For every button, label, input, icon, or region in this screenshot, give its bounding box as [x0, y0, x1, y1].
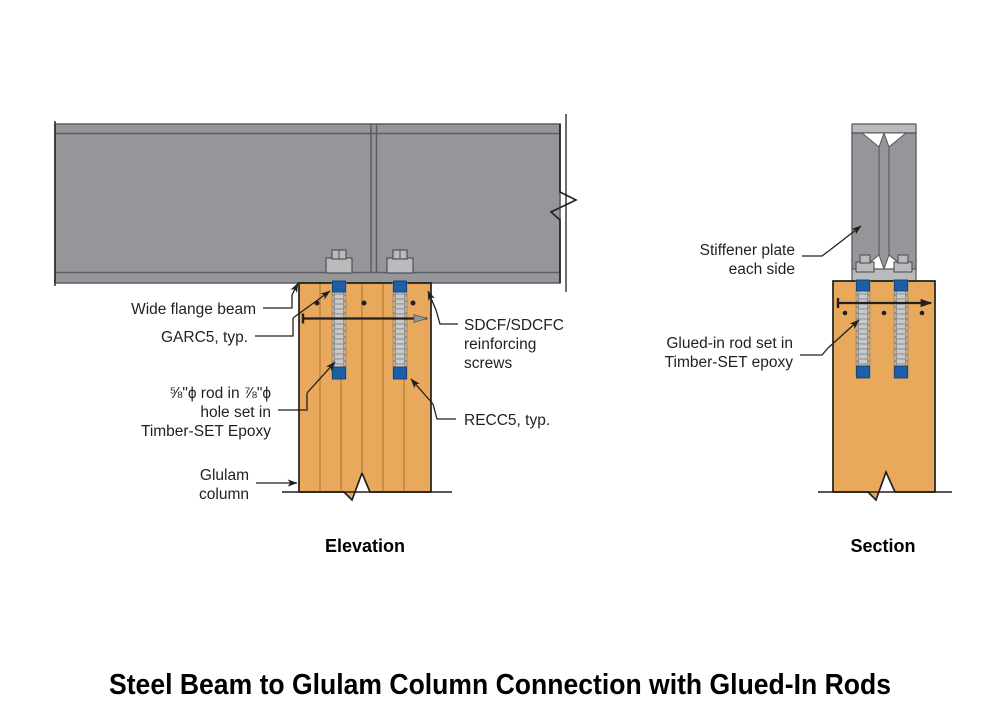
stiffener-plate-left — [852, 133, 881, 269]
glued-in-rod — [894, 280, 908, 378]
rod-top-cap — [333, 281, 346, 292]
caption-elevation: Elevation — [325, 536, 405, 556]
rod-bottom-cap — [333, 367, 346, 379]
label-stiffener-line1: Stiffener plate — [700, 242, 795, 259]
label-garc5: GARC5, typ. — [161, 329, 248, 346]
rod-top-cap — [857, 280, 870, 291]
label-sdcf-line3: screws — [464, 355, 512, 372]
beam-web-body — [55, 124, 560, 283]
rod-bottom-cap — [394, 367, 407, 379]
label-glulam-line2: column — [199, 486, 249, 503]
figure-title: Steel Beam to Glulam Column Connection w… — [109, 669, 891, 701]
label-wide-flange-beam: Wide flange beam — [131, 301, 256, 318]
label-rod-note-line1: ⅝"ϕ rod in ⅞"ϕ — [169, 385, 271, 402]
rod-top-cap — [394, 281, 407, 292]
column-body — [299, 283, 431, 500]
glued-in-rod — [856, 280, 870, 378]
rod-threaded-body — [859, 281, 868, 377]
wide-flange-beam-elevation — [55, 114, 576, 292]
rod-threaded-body — [897, 281, 906, 377]
label-stiffener-line2: each side — [729, 261, 795, 278]
rod-top-cap — [895, 280, 908, 291]
caption-section: Section — [850, 536, 915, 556]
label-rod-note-line3: Timber-SET Epoxy — [141, 423, 271, 440]
glued-in-rod — [393, 281, 407, 379]
rod-bottom-cap — [895, 366, 908, 378]
label-recc5: RECC5, typ. — [464, 412, 550, 429]
beam-web-section — [879, 133, 889, 269]
label-glulam-line1: Glulam — [200, 467, 249, 484]
label-sdcf-line2: reinforcing — [464, 336, 536, 353]
glued-in-rod — [332, 281, 346, 379]
figure-canvas: Wide flange beam GARC5, typ. ⅝"ϕ rod in … — [0, 0, 1000, 720]
rod-threaded-body — [396, 283, 405, 379]
wide-flange-beam-section — [852, 124, 916, 281]
technical-drawing: Wide flange beam GARC5, typ. ⅝"ϕ rod in … — [0, 0, 1000, 720]
stiffener-plate-right — [887, 133, 916, 269]
label-sdcf-line1: SDCF/SDCFC — [464, 317, 564, 334]
rod-bottom-cap — [857, 366, 870, 378]
label-rod-note-line2: hole set in — [200, 404, 271, 421]
rod-threaded-body — [335, 283, 344, 379]
beam-top-flange — [852, 124, 916, 133]
label-gluedin-line2: Timber-SET epoxy — [665, 354, 794, 371]
label-gluedin-line1: Glued-in rod set in — [666, 335, 793, 352]
